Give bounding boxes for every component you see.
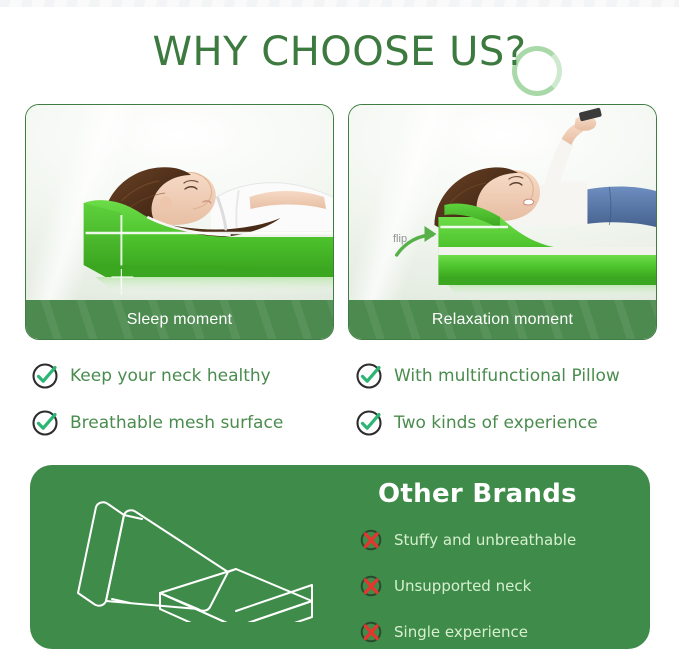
feature-label: Keep your neck healthy (70, 366, 271, 386)
cross-circle-icon (360, 621, 382, 643)
brand-drawback-label: Stuffy and unbreathable (394, 531, 576, 549)
check-circle-icon (355, 362, 383, 390)
feature-label: Two kinds of experience (394, 413, 598, 433)
feature-item: Two kinds of experience (355, 402, 675, 443)
other-brands-title: Other Brands (378, 479, 640, 509)
check-circle-icon (355, 409, 383, 437)
cross-circle-icon (360, 575, 382, 597)
cross-circle-icon (360, 529, 382, 551)
feature-cards: Sleep moment (0, 104, 679, 340)
feature-item: Keep your neck healthy (31, 355, 351, 396)
top-texture-strip (0, 0, 679, 11)
check-circle-icon (31, 362, 59, 390)
card-caption-label: Sleep moment (127, 311, 233, 329)
feature-list-left: Keep your neck healthy Breathable mesh s… (31, 355, 351, 449)
card-caption-label: Relaxation moment (432, 311, 573, 329)
relaxation-scene-illustration (349, 105, 656, 302)
page-title-area: WHY CHOOSE US? (0, 22, 679, 82)
promo-page: WHY CHOOSE US? (0, 0, 679, 661)
card-photo-relaxation: flip (349, 105, 656, 302)
feature-item: Breathable mesh surface (31, 402, 351, 443)
card-photo-sleep (26, 105, 333, 302)
flip-label: flip (393, 233, 407, 245)
brand-drawback-item: Single experience (360, 613, 640, 649)
feature-lists: Keep your neck healthy Breathable mesh s… (0, 355, 679, 450)
feature-label: Breathable mesh surface (70, 413, 283, 433)
brand-drawback-item: Stuffy and unbreathable (360, 521, 640, 558)
sleep-scene-illustration (26, 105, 333, 302)
brand-drawback-label: Single experience (394, 623, 528, 641)
page-title: WHY CHOOSE US? (152, 29, 526, 75)
other-brands-content: Other Brands Stuffy and unbreathable (360, 479, 640, 649)
card-relaxation-moment[interactable]: flip Relaxation moment (348, 104, 657, 340)
check-circle-icon (31, 409, 59, 437)
brand-drawback-label: Unsupported neck (394, 577, 531, 595)
feature-item: With multifunctional Pillow (355, 355, 675, 396)
card-caption-relaxation: Relaxation moment (349, 300, 656, 339)
card-caption-sleep: Sleep moment (26, 300, 333, 339)
card-sleep-moment[interactable]: Sleep moment (25, 104, 334, 340)
brand-drawback-item: Unsupported neck (360, 567, 640, 604)
other-brands-panel: Other Brands Stuffy and unbreathable (30, 465, 650, 649)
feature-list-right: With multifunctional Pillow Two kinds of… (355, 355, 675, 449)
feature-label: With multifunctional Pillow (394, 366, 620, 386)
trifold-mattress-outline-icon (68, 497, 328, 622)
